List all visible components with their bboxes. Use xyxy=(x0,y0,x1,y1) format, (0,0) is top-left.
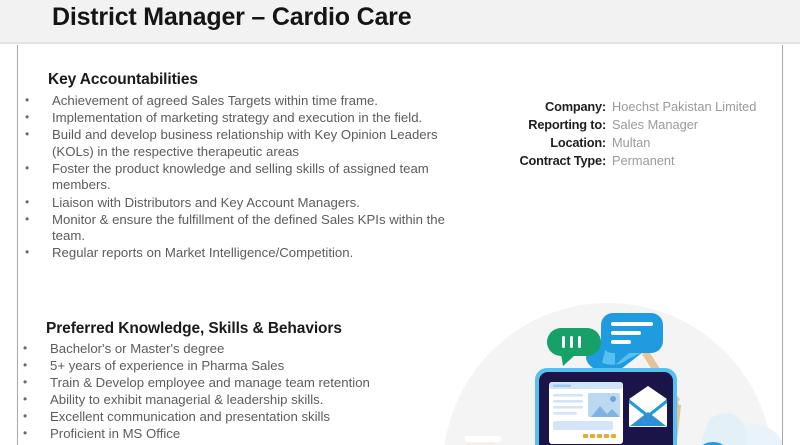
list-item: Monitor & ensure the fulfillment of the … xyxy=(18,212,448,245)
info-value: Multan xyxy=(612,134,650,151)
content-card-inner: Key Accountabilities Achievement of agre… xyxy=(18,45,781,445)
job-info-block: Company: Hoechst Pakistan Limited Report… xyxy=(478,98,778,170)
desk-workspace-illustration xyxy=(443,300,783,445)
info-value: Permanent xyxy=(612,152,675,169)
list-item: Achievement of agreed Sales Targets with… xyxy=(18,93,448,110)
list-item: Proficient in MS Office xyxy=(17,426,456,443)
list-item: Bachelor's or Master's degree xyxy=(17,341,456,358)
info-label: Company: xyxy=(478,98,612,115)
page-title: District Manager – Cardio Care xyxy=(52,3,411,32)
list-item: Build and develop business relationship … xyxy=(18,127,448,160)
coffee-cup-icon xyxy=(465,436,501,445)
list-item: Train & Develop employee and manage team… xyxy=(17,375,456,392)
info-row-location: Location: Multan xyxy=(478,134,778,151)
info-label: Contract Type: xyxy=(478,152,612,169)
info-row-company: Company: Hoechst Pakistan Limited xyxy=(478,98,778,115)
section-title-accountabilities: Key Accountabilities xyxy=(48,71,198,89)
accountabilities-list: Achievement of agreed Sales Targets with… xyxy=(18,93,448,262)
content-card: Key Accountabilities Achievement of agre… xyxy=(17,45,783,445)
section-title-preferred: Preferred Knowledge, Skills & Behaviors xyxy=(46,320,342,338)
info-row-contract-type: Contract Type: Permanent xyxy=(478,152,778,169)
info-label: Location: xyxy=(478,134,612,151)
info-value: Sales Manager xyxy=(612,116,698,133)
list-item: Liaison with Distributors and Key Accoun… xyxy=(18,195,448,212)
info-row-reporting-to: Reporting to: Sales Manager xyxy=(478,116,778,133)
list-item: Implementation of marketing strategy and… xyxy=(18,110,448,127)
list-item: 5+ years of experience in Pharma Sales xyxy=(17,358,456,375)
monitor-icon xyxy=(535,368,677,445)
blob-blue-icon xyxy=(702,413,747,445)
list-item: Ability to exhibit managerial & leadersh… xyxy=(17,392,456,409)
preferred-list: Bachelor's or Master's degree 5+ years o… xyxy=(17,341,456,444)
list-item: Regular reports on Market Intelligence/C… xyxy=(18,245,448,262)
header-divider xyxy=(0,42,800,44)
list-item: Foster the product knowledge and selling… xyxy=(18,161,448,194)
slide: District Manager – Cardio Care Key Accou… xyxy=(0,0,800,445)
info-label: Reporting to: xyxy=(478,116,612,133)
list-item: Excellent communication and presentation… xyxy=(17,409,456,426)
info-value: Hoechst Pakistan Limited xyxy=(612,98,756,115)
